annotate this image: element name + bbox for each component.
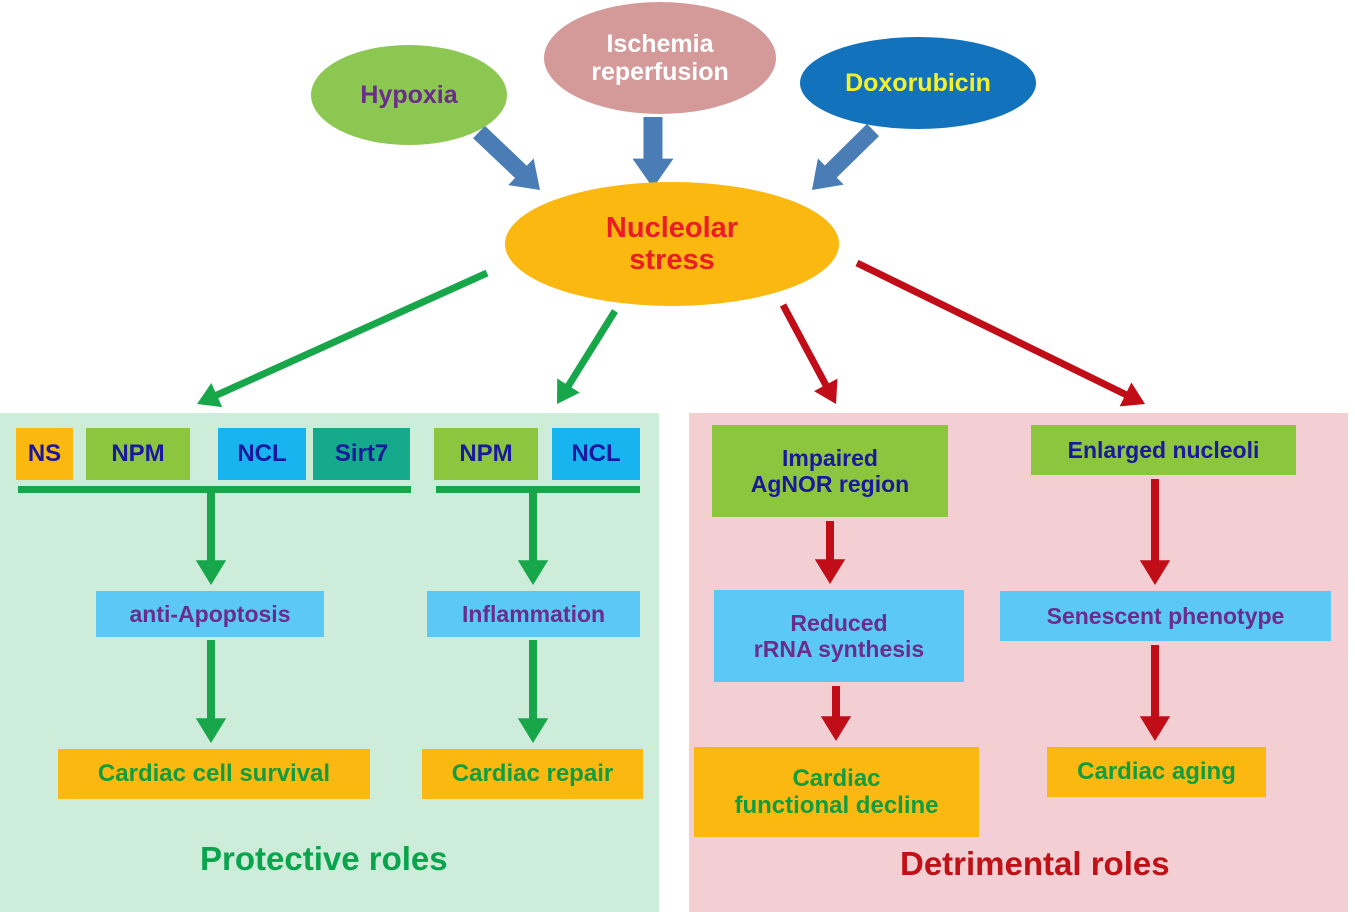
- stimulus-hypoxia[interactable]: Hypoxia: [311, 45, 507, 145]
- stimulus-label: Doxorubicin: [845, 69, 991, 97]
- node-cardiac-repair[interactable]: Cardiac repair: [422, 749, 643, 799]
- panel-label-protective: Protective roles: [200, 840, 448, 878]
- group-survival-underline: [18, 486, 411, 493]
- node-label: ReducedrRNA synthesis: [754, 610, 924, 662]
- nucleolar-stress-label: Nucleolarstress: [606, 212, 738, 277]
- node-inflammation[interactable]: Inflammation: [427, 591, 640, 637]
- node-impaired-agnor[interactable]: ImpairedAgNOR region: [712, 425, 948, 517]
- gene-label: NPM: [459, 440, 512, 467]
- gene-label: NCL: [571, 440, 620, 467]
- arrow-hub-to-impaired: [783, 305, 837, 404]
- stimulus-ischemia[interactable]: Ischemiareperfusion: [544, 2, 776, 114]
- group-repair-underline: [436, 486, 640, 493]
- stimulus-label: Ischemiareperfusion: [591, 30, 729, 86]
- node-senescent-phenotype[interactable]: Senescent phenotype: [1000, 591, 1331, 641]
- gene-box-npm[interactable]: NPM: [434, 428, 538, 480]
- arrow-hub-to-group-repair: [557, 311, 615, 404]
- node-label: Cardiac aging: [1077, 758, 1236, 785]
- arrow-doxorubicin-to-hub: [812, 124, 879, 190]
- stimulus-label: Hypoxia: [360, 81, 457, 109]
- stimulus-doxorubicin[interactable]: Doxorubicin: [800, 37, 1036, 129]
- node-cardiac-cell-survival[interactable]: Cardiac cell survival: [58, 749, 370, 799]
- gene-box-ns[interactable]: NS: [16, 428, 73, 480]
- gene-box-ncl[interactable]: NCL: [218, 428, 306, 480]
- gene-label: NPM: [111, 440, 164, 467]
- gene-label: Sirt7: [335, 440, 388, 467]
- node-label: Enlarged nucleoli: [1068, 437, 1260, 463]
- node-label: Inflammation: [462, 601, 605, 627]
- panel-label-detrimental: Detrimental roles: [900, 845, 1170, 883]
- node-label: Cardiac cell survival: [98, 760, 330, 787]
- node-label: Cardiacfunctional decline: [734, 765, 938, 820]
- arrow-hub-to-enlarged: [857, 263, 1145, 406]
- node-label: ImpairedAgNOR region: [751, 445, 909, 497]
- diagram-canvas: HypoxiaIschemiareperfusionDoxorubicin Nu…: [0, 0, 1355, 912]
- node-enlarged-nucleoli[interactable]: Enlarged nucleoli: [1031, 425, 1296, 475]
- node-reduced-rrna[interactable]: ReducedrRNA synthesis: [714, 590, 964, 682]
- gene-box-ncl[interactable]: NCL: [552, 428, 640, 480]
- arrow-hub-to-group-survival: [197, 273, 487, 407]
- node-label: anti-Apoptosis: [130, 601, 291, 627]
- node-label: Senescent phenotype: [1047, 603, 1285, 629]
- arrow-ischemia-to-hub: [633, 117, 674, 188]
- gene-box-npm[interactable]: NPM: [86, 428, 190, 480]
- nucleolar-stress-node[interactable]: Nucleolarstress: [505, 182, 839, 306]
- node-cardiac-func-decline[interactable]: Cardiacfunctional decline: [694, 747, 979, 837]
- node-label: Cardiac repair: [452, 760, 613, 787]
- gene-label: NS: [28, 440, 61, 467]
- node-cardiac-aging[interactable]: Cardiac aging: [1047, 747, 1266, 797]
- gene-label: NCL: [237, 440, 286, 467]
- arrow-hypoxia-to-hub: [473, 126, 540, 190]
- gene-box-sirt7[interactable]: Sirt7: [313, 428, 410, 480]
- node-anti-apoptosis[interactable]: anti-Apoptosis: [96, 591, 324, 637]
